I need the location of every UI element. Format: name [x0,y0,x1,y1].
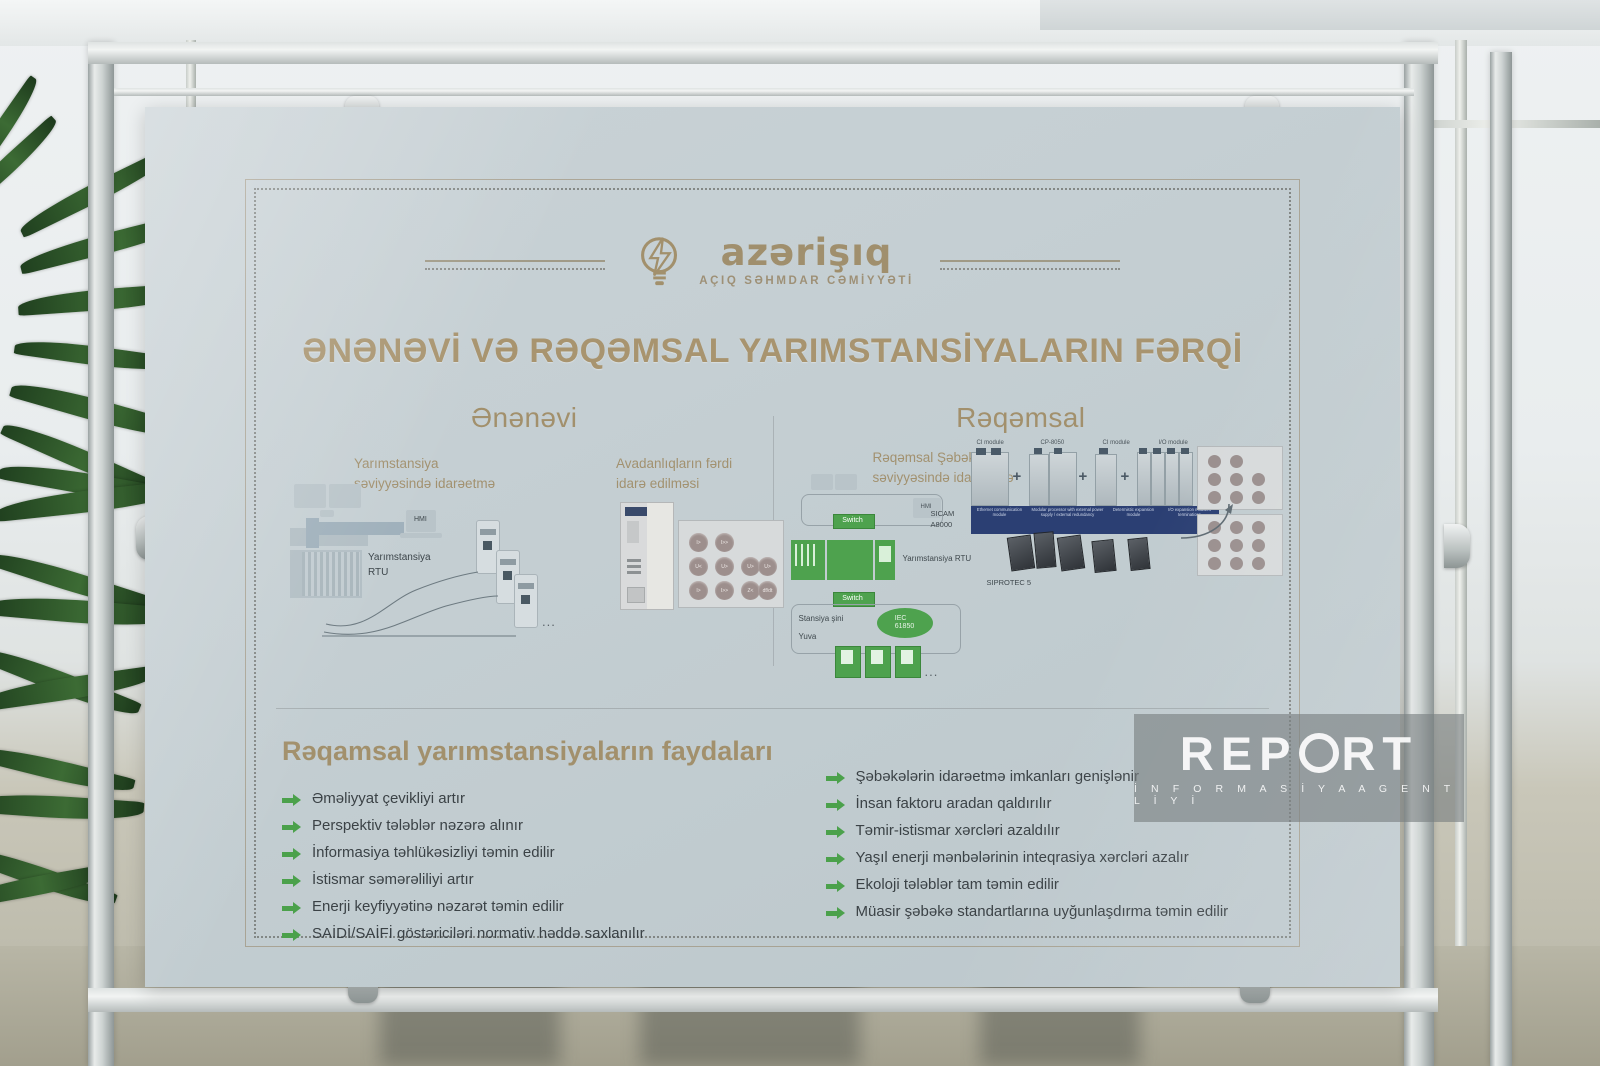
module-label-2: CI module [1103,440,1130,446]
module-label-1: CP-8050 [1041,440,1065,446]
label-slot: Yuva [799,632,817,641]
stand-rail-upper-thin [114,88,1414,96]
arrow-right-icon [282,875,301,887]
column-heading-traditional: Ənənəvi [276,402,773,434]
list-item: İnformasiya təhlükəsizliyi təmin edilir [282,844,726,862]
arrow-right-icon [826,853,845,865]
module-caption-1: Modular processor with external power su… [1029,506,1107,534]
watermark-wordmark: REP RT [1180,730,1418,777]
benefit-text: SAİDİ/SAİFİ göstəriciləri normativ həddə… [312,925,645,943]
benefit-text: Əməliyyat çevikliyi artır [312,790,465,808]
arrow-right-icon [826,907,845,919]
benefit-text: Enerji keyfiyyətinə nəzarət təmin edilir [312,898,564,916]
poster: azərişıq AÇIQ SƏHMDAR CƏMİYYƏTİ ƏNƏNƏVİ … [145,107,1400,987]
benefit-text: İnformasiya təhlükəsizliyi təmin edilir [312,844,555,862]
benefit-text: Perspektiv tələblər nəzərə alınır [312,817,523,835]
label-sicam-a8000: SICAM A8000 [931,508,955,531]
caption-individual-equipment-control: Avadanlıqların fərdi idarə edilməsi [616,454,732,493]
benefit-text: İstismar səmərəliliyi artır [312,871,474,889]
benefit-text: İnsan faktoru aradan qaldırılır [856,795,1052,813]
benefit-text: Ekoloji tələblər tam təmin edilir [856,876,1059,894]
watermark-subtitle: İ N F O R M A S İ Y A A G E N T L İ Y İ [1134,783,1464,807]
label-switch-1: Switch [833,514,873,527]
benefit-text: Təmir-istismar xərcləri azaldılır [856,822,1060,840]
arrow-right-icon [282,929,301,941]
lightbulb-bolt-logo-icon [631,232,689,290]
list-item: Müasir şəbəkə standartlarına uyğunlaşdır… [826,903,1270,921]
watermark-text-right: RT [1341,730,1418,777]
arrow-right-icon [282,902,301,914]
column-digital: Rəqəmsal Rəqəmsal Şəbəkələr səviyyəsində… [773,402,1270,692]
label-ellipsis-digital: ... [925,664,939,679]
arrow-right-icon [282,794,301,806]
arrow-right-icon [826,772,845,784]
stand-post-right [1404,42,1434,1066]
company-logo: azərişıq AÇIQ SƏHMDAR CƏMİYYƏTİ [631,232,914,290]
column-heading-digital: Rəqəmsal [773,402,1270,434]
list-item: Təmir-istismar xərcləri azaldılır [826,822,1270,840]
module-caption-0: Ethernet communication module [971,506,1029,534]
section-divider [276,708,1269,709]
arrow-right-icon [282,848,301,860]
brand-name: azərişıq [721,235,893,270]
label-iec-61850: IEC 61850 [877,608,933,638]
label-siprotec-5: SIPROTEC 5 [987,578,1032,587]
brand-subtitle: AÇIQ SƏHMDAR CƏMİYYƏTİ [699,275,914,287]
stand-post-far-right [1490,52,1512,1066]
stand-post-left [88,42,114,1066]
benefit-text: Müasir şəbəkə standartlarına uyğunlaşdır… [856,903,1229,921]
arrow-right-icon [826,826,845,838]
list-item: Əməliyyat çevikliyi artır [282,790,726,808]
label-station-bus: Stansiya şini [799,614,844,623]
ceiling-panel [1040,0,1600,30]
logo-rule-right [940,260,1120,262]
poster-clip-right [1444,524,1470,568]
caption-substation-level-control: Yarımstansiya səviyyəsində idarəetmə [354,454,495,493]
poster-title: ƏNƏNƏVİ VƏ RƏQƏMSAL YARIMSTANSİYALARIN F… [246,332,1299,371]
list-item: Yaşıl enerji mənbələrinin inteqrasiya xə… [826,849,1270,867]
label-hmi: HMI [414,516,427,523]
arrow-right-icon [826,880,845,892]
report-agency-watermark: REP RT İ N F O R M A S İ Y A A G E N T L… [1134,714,1464,822]
list-item: İstismar səmərəliliyi artır [282,871,726,889]
module-label-0: CI module [977,440,1004,446]
benefit-text: Şəbəkələrin idarəetmə imkanları genişlən… [856,768,1139,786]
list-item: SAİDİ/SAİFİ göstəriciləri normativ həddə… [282,925,726,943]
module-label-3: I/O module [1159,440,1188,446]
benefit-text: Yaşıl enerji mənbələrinin inteqrasiya xə… [856,849,1189,867]
column-traditional: Ənənəvi Yarımstansiya səviyyəsində idarə… [276,402,773,692]
list-item: Perspektiv tələblər nəzərə alınır [282,817,726,835]
poster-inner-frame: azərişıq AÇIQ SƏHMDAR CƏMİYYƏTİ ƏNƏNƏVİ … [245,179,1300,947]
module-caption-2: Determistic expansion module [1107,506,1161,534]
list-item: Ekoloji tələblər tam təmin edilir [826,876,1270,894]
benefits-list-left: Əməliyyat çevikliyi artır Perspektiv təl… [282,790,726,952]
logo-wordmark: azərişıq AÇIQ SƏHMDAR CƏMİYYƏTİ [699,235,914,286]
benefits-title: Rəqamsal yarımstansiyaların faydaları [282,736,773,767]
stand-rail-bottom [88,988,1438,1012]
arrow-right-icon [282,821,301,833]
stand-rail-top [88,42,1438,64]
watermark-text-left: REP [1180,730,1298,777]
list-item: Enerji keyfiyyətinə nəzarət təmin edilir [282,898,726,916]
logo-rule-left [425,260,605,262]
globe-icon [1299,733,1339,773]
label-substation-rtu-digital: Yarımstansiya RTU [903,554,972,563]
benefits-lists: Əməliyyat çevikliyi artır Perspektiv təl… [282,790,1269,952]
label-ellipsis: ... [542,614,556,629]
logo-row: azərişıq AÇIQ SƏHMDAR CƏMİYYƏTİ [246,232,1299,290]
arrow-right-icon [826,799,845,811]
comparison-columns: Ənənəvi Yarımstansiya səviyyəsində idarə… [276,402,1269,692]
window-mullion-vertical [1455,40,1467,1000]
